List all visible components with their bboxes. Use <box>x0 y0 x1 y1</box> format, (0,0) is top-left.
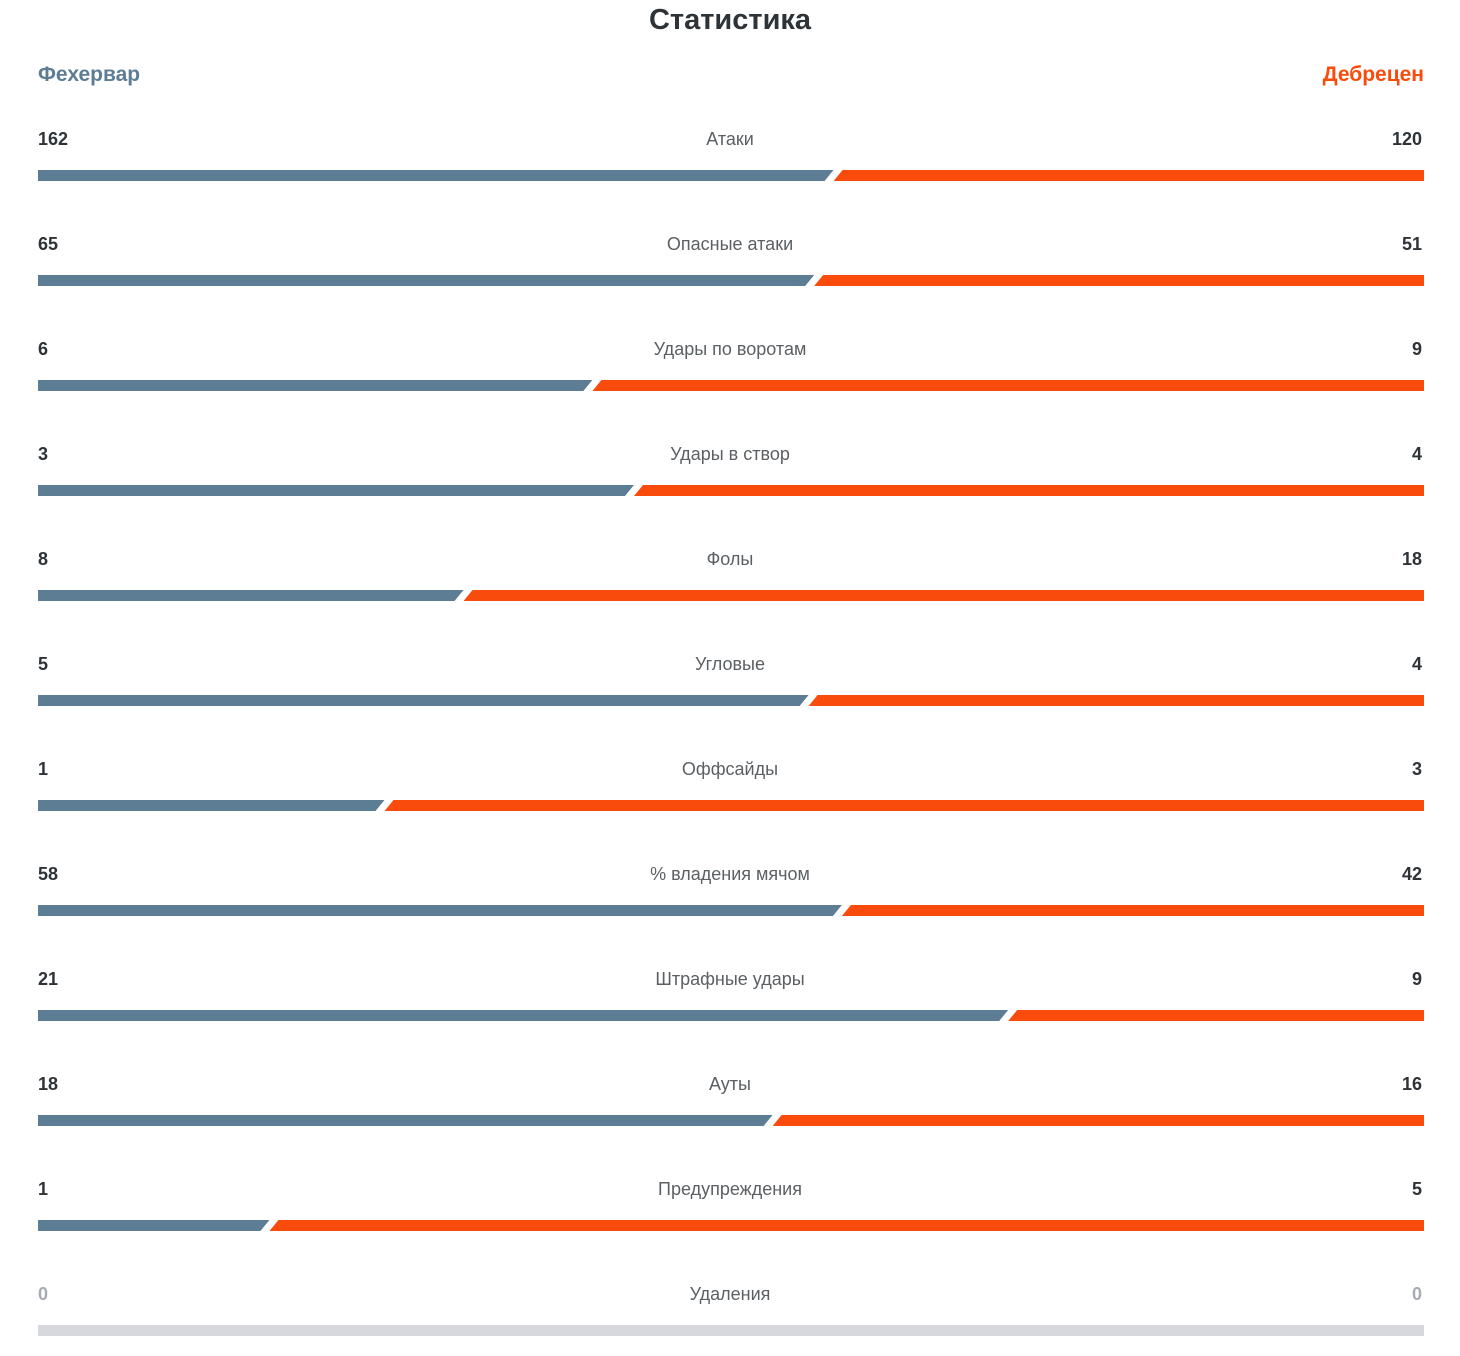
home-bar <box>38 380 592 391</box>
away-team-name: Дебрецен <box>1323 62 1424 88</box>
stat-label: Оффсайды <box>0 748 1460 790</box>
home-value: 18 <box>38 1072 98 1096</box>
home-value: 1 <box>38 1177 98 1201</box>
stat-label: Угловые <box>0 643 1460 685</box>
away-value: 42 <box>1362 862 1422 886</box>
stat-row-head: 6Удары по воротам9 <box>0 328 1460 370</box>
stat-row: 58% владения мячом42 <box>0 853 1460 958</box>
home-bar <box>38 905 842 916</box>
stat-row-head: 162Атаки120 <box>0 118 1460 160</box>
home-value: 58 <box>38 862 98 886</box>
stat-bar-track <box>38 590 1424 601</box>
away-bar <box>385 800 1425 811</box>
away-bar <box>269 1220 1424 1231</box>
away-value: 5 <box>1362 1177 1422 1201</box>
stat-bar-track <box>38 275 1424 286</box>
stat-bar-track <box>38 905 1424 916</box>
stat-label: Штрафные удары <box>0 958 1460 1000</box>
stat-bar-track <box>38 695 1424 706</box>
team-header: Фехервар Дебрецен <box>38 62 1424 94</box>
stat-bar-track <box>38 1325 1424 1336</box>
away-value: 18 <box>1362 547 1422 571</box>
away-value: 4 <box>1362 652 1422 676</box>
stat-bar-track <box>38 485 1424 496</box>
home-value: 0 <box>38 1282 98 1306</box>
stat-bar-track <box>38 1115 1424 1126</box>
stat-label: Предупреждения <box>0 1168 1460 1210</box>
stat-row: 8Фолы18 <box>0 538 1460 643</box>
stat-bar-track <box>38 1010 1424 1021</box>
stat-row-head: 21Штрафные удары9 <box>0 958 1460 1000</box>
home-value: 162 <box>38 127 98 151</box>
stat-row-head: 58% владения мячом42 <box>0 853 1460 895</box>
away-bar <box>464 590 1424 601</box>
away-value: 9 <box>1362 967 1422 991</box>
stat-label: Удары в створ <box>0 433 1460 475</box>
away-bar <box>814 275 1424 286</box>
home-bar <box>38 590 464 601</box>
home-value: 3 <box>38 442 98 466</box>
away-value: 0 <box>1362 1282 1422 1306</box>
stat-label: Удары по воротам <box>0 328 1460 370</box>
away-bar <box>842 905 1424 916</box>
home-value: 6 <box>38 337 98 361</box>
stat-label: Ауты <box>0 1063 1460 1105</box>
stat-row-head: 1Предупреждения5 <box>0 1168 1460 1210</box>
away-value: 51 <box>1362 232 1422 256</box>
stat-row: 0Удаления0 <box>0 1273 1460 1356</box>
stat-row: 6Удары по воротам9 <box>0 328 1460 433</box>
stat-label: Удаления <box>0 1273 1460 1315</box>
away-value: 16 <box>1362 1072 1422 1096</box>
home-bar <box>38 800 385 811</box>
away-value: 9 <box>1362 337 1422 361</box>
stat-row: 21Штрафные удары9 <box>0 958 1460 1063</box>
stat-row: 1Предупреждения5 <box>0 1168 1460 1273</box>
home-bar <box>38 1220 269 1231</box>
empty-bar <box>38 1325 1424 1336</box>
home-team-name: Фехервар <box>38 62 140 88</box>
stat-bar-track <box>38 170 1424 181</box>
home-bar <box>38 695 809 706</box>
home-bar <box>38 1010 1008 1021</box>
away-bar <box>809 695 1424 706</box>
stat-bar-track <box>38 800 1424 811</box>
away-bar <box>773 1115 1424 1126</box>
away-value: 4 <box>1362 442 1422 466</box>
stat-rows: 162Атаки12065Опасные атаки516Удары по во… <box>0 118 1460 1356</box>
stat-bar-track <box>38 380 1424 391</box>
stat-row-head: 18Ауты16 <box>0 1063 1460 1105</box>
away-bar <box>634 485 1424 496</box>
stat-row: 1Оффсайды3 <box>0 748 1460 853</box>
stat-row-head: 65Опасные атаки51 <box>0 223 1460 265</box>
home-bar <box>38 485 634 496</box>
stat-row: 18Ауты16 <box>0 1063 1460 1168</box>
away-value: 120 <box>1362 127 1422 151</box>
stat-row-head: 3Удары в створ4 <box>0 433 1460 475</box>
stat-label: Атаки <box>0 118 1460 160</box>
stat-bar-track <box>38 1220 1424 1231</box>
away-value: 3 <box>1362 757 1422 781</box>
stat-row: 162Атаки120 <box>0 118 1460 223</box>
stat-row: 65Опасные атаки51 <box>0 223 1460 328</box>
stat-label: Фолы <box>0 538 1460 580</box>
home-bar <box>38 170 834 181</box>
home-bar <box>38 1115 773 1126</box>
stat-row-head: 8Фолы18 <box>0 538 1460 580</box>
page-title: Статистика <box>0 4 1460 37</box>
stat-row: 5Угловые4 <box>0 643 1460 748</box>
home-value: 21 <box>38 967 98 991</box>
stat-row-head: 1Оффсайды3 <box>0 748 1460 790</box>
away-bar <box>834 170 1424 181</box>
stat-row: 3Удары в створ4 <box>0 433 1460 538</box>
home-value: 1 <box>38 757 98 781</box>
away-bar <box>592 380 1424 391</box>
home-value: 65 <box>38 232 98 256</box>
statistics-panel: Статистика Фехервар Дебрецен 162Атаки120… <box>0 0 1460 1356</box>
home-value: 5 <box>38 652 98 676</box>
stat-row-head: 5Угловые4 <box>0 643 1460 685</box>
stat-row-head: 0Удаления0 <box>0 1273 1460 1315</box>
home-bar <box>38 275 814 286</box>
stat-label: % владения мячом <box>0 853 1460 895</box>
home-value: 8 <box>38 547 98 571</box>
stat-label: Опасные атаки <box>0 223 1460 265</box>
away-bar <box>1008 1010 1424 1021</box>
